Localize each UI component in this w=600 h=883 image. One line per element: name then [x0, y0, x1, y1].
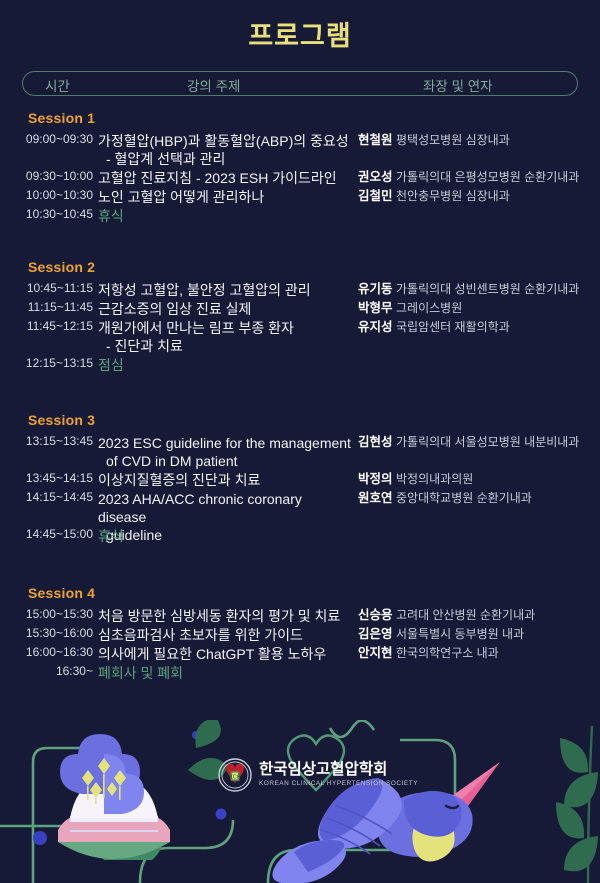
speaker-name: 김철민	[358, 189, 393, 203]
row-speaker: 현철원 평택성모병원 심장내과	[358, 132, 598, 149]
speaker-name: 박형무	[358, 301, 393, 315]
speaker-affiliation: 그레이스병원	[396, 301, 462, 315]
row-subject-line1: 폐회사 및 폐회	[98, 665, 183, 681]
row-speaker: 신승용 고려대 안산병원 순환기내과	[358, 607, 598, 624]
speaker-affiliation: 중앙대학교병원 순환기내과	[396, 491, 532, 505]
speaker-name: 원호연	[358, 491, 393, 505]
row-subject-line1: 이상지질혈증의 진단과 치료	[98, 472, 260, 488]
row-time: 11:15~11:45	[0, 300, 93, 314]
row-subject-line1: 가정혈압(HBP)과 활동혈압(ABP)의 중요성	[98, 133, 349, 149]
row-time: 14:45~15:00	[0, 527, 93, 541]
row-speaker: 유지성 국립암센터 재활의학과	[358, 319, 598, 336]
speaker-affiliation: 가톨릭의대 성빈센트병원 순환기내과	[396, 282, 579, 296]
row-time: 13:15~13:45	[0, 434, 93, 448]
row-subject-line1: 휴식	[98, 528, 124, 544]
row-speaker: 김은영 서울특별시 동부병원 내과	[358, 626, 598, 643]
row-subject: 의사에게 필요한 ChatGPT 활용 노하우	[98, 645, 353, 663]
speaker-name: 김현성	[358, 435, 393, 449]
row-speaker: 권오성 가톨릭의대 은평성모병원 순환기내과	[358, 169, 598, 186]
row-subject-line1: 의사에게 필요한 ChatGPT 활용 노하우	[98, 646, 326, 662]
green-line-stem	[140, 820, 233, 883]
society-name-korean: 한국임상고혈압학회	[259, 761, 418, 778]
row-subject: 개원가에서 만나는 림프 부종 환자- 진단과 치료	[98, 319, 353, 355]
speaker-affiliation: 한국의학연구소 내과	[396, 646, 499, 660]
row-subject-line2: of CVD in DM patient	[98, 452, 353, 470]
row-subject: 심초음파검사 초보자를 위한 가이드	[98, 626, 353, 644]
speaker-name: 신승용	[358, 608, 393, 622]
column-header-time: 시간	[45, 75, 70, 95]
row-subject-line1: 2023 AHA/ACC chronic coronary disease	[98, 491, 302, 525]
speaker-affiliation: 국립암센터 재활의학과	[396, 320, 510, 334]
row-subject-line1: 근감소증의 임상 진료 실제	[98, 301, 251, 317]
row-time: 10:30~10:45	[0, 207, 93, 221]
dot	[33, 831, 47, 845]
speaker-name: 유지성	[358, 320, 393, 334]
speaker-affiliation: 천안충무병원 심장내과	[396, 189, 510, 203]
session-heading: Session 1	[28, 110, 95, 126]
leaf-cluster-right	[188, 720, 598, 883]
row-subject-line1: 심초음파검사 초보자를 위한 가이드	[98, 627, 303, 643]
row-subject-line1: 저항성 고혈압, 불안정 고혈압의 관리	[98, 282, 311, 298]
dot	[216, 809, 227, 820]
row-subject-line2: - 혈압계 선택과 관리	[98, 150, 353, 168]
speaker-name: 안지현	[358, 646, 393, 660]
row-time: 12:15~13:15	[0, 356, 93, 370]
row-time: 11:45~12:15	[0, 319, 93, 333]
dot	[125, 842, 138, 855]
row-subject-line1: 개원가에서 만나는 림프 부종 환자	[98, 320, 294, 336]
session-heading: Session 2	[28, 259, 95, 275]
row-subject: 점심	[98, 356, 353, 374]
row-time: 14:15~14:45	[0, 490, 93, 504]
column-header-subject: 강의 주제	[187, 75, 240, 95]
page-title: 프로그램	[0, 14, 600, 53]
row-time: 16:00~16:30	[0, 645, 93, 659]
row-subject: 처음 방문한 심방세동 환자의 평가 및 치료	[98, 607, 353, 625]
speaker-name: 권오성	[358, 170, 393, 184]
row-subject: 휴식	[98, 207, 353, 225]
column-header-pill: 시간 강의 주제 좌장 및 연자	[22, 71, 578, 96]
row-speaker: 박형무 그레이스병원	[358, 300, 598, 317]
speaker-name: 현철원	[358, 133, 393, 147]
row-subject: 저항성 고혈압, 불안정 고혈압의 관리	[98, 281, 353, 299]
row-time: 10:00~10:30	[0, 188, 93, 202]
flower-sparkles	[82, 758, 126, 804]
row-time: 09:00~09:30	[0, 132, 93, 146]
row-time: 13:45~14:15	[0, 471, 93, 485]
session-heading: Session 4	[28, 585, 95, 601]
program-poster: 프로그램 시간 강의 주제 좌장 및 연자 Session 109:00~09:…	[0, 0, 600, 883]
speaker-affiliation: 서울특별시 동부병원 내과	[396, 627, 524, 641]
row-time: 10:45~11:15	[0, 281, 93, 295]
row-time: 09:30~10:00	[0, 169, 93, 183]
row-speaker: 원호연 중앙대학교병원 순환기내과	[358, 490, 598, 507]
row-subject-line1: 노인 고혈압 어떻게 관리하나	[98, 189, 264, 205]
row-subject: 폐회사 및 폐회	[98, 664, 353, 682]
session-heading: Session 3	[28, 412, 95, 428]
speaker-affiliation: 박정의내과의원	[396, 472, 473, 486]
row-subject-line1: 고혈압 진료지침 - 2023 ESH 가이드라인	[98, 170, 337, 186]
row-subject: 가정혈압(HBP)과 활동혈압(ABP)의 중요성- 혈압계 선택과 관리	[98, 132, 353, 168]
speaker-affiliation: 가톨릭의대 은평성모병원 순환기내과	[396, 170, 579, 184]
row-subject-line1: 휴식	[98, 208, 124, 224]
row-subject-line1: 처음 방문한 심방세동 환자의 평가 및 치료	[98, 608, 340, 624]
row-subject: 노인 고혈압 어떻게 관리하나	[98, 188, 353, 206]
svg-text:KCH: KCH	[230, 774, 241, 780]
row-subject-line1: 2023 ESC guideline for the management	[98, 435, 351, 451]
bottom-decoration	[0, 720, 600, 883]
row-subject: 이상지질혈증의 진단과 치료	[98, 471, 353, 489]
green-line-left	[33, 748, 86, 883]
column-header-speaker: 좌장 및 연자	[423, 75, 493, 95]
row-time: 16:30~	[0, 664, 93, 678]
row-speaker: 박정의 박정의내과의원	[358, 471, 598, 488]
row-speaker: 유기동 가톨릭의대 성빈센트병원 순환기내과	[358, 281, 598, 298]
bird-eye-icon	[446, 806, 458, 808]
dot	[438, 796, 450, 808]
society-emblem-icon: KCH	[218, 758, 252, 792]
row-speaker: 김현성 가톨릭의대 서울성모병원 내분비내과	[358, 434, 598, 451]
society-logo: KCH 한국임상고혈압학회 KOREAN CLINICAL HYPERTENSI…	[218, 758, 418, 792]
squiggle	[330, 720, 374, 737]
speaker-name: 박정의	[358, 472, 393, 486]
row-subject: 2023 ESC guideline for the managementof …	[98, 434, 353, 470]
row-time: 15:30~16:00	[0, 626, 93, 640]
row-speaker: 안지현 한국의학연구소 내과	[358, 645, 598, 662]
speaker-affiliation: 가톨릭의대 서울성모병원 내분비내과	[396, 435, 579, 449]
speaker-name: 유기동	[358, 282, 393, 296]
row-speaker: 김철민 천안충무병원 심장내과	[358, 188, 598, 205]
speaker-affiliation: 평택성모병원 심장내과	[396, 133, 510, 147]
society-name-english: KOREAN CLINICAL HYPERTENSION SOCIETY	[259, 779, 418, 789]
row-subject-line2: - 진단과 치료	[98, 337, 353, 355]
row-subject-line1: 점심	[98, 357, 124, 373]
dot	[192, 731, 200, 739]
speaker-affiliation: 고려대 안산병원 순환기내과	[396, 608, 535, 622]
row-subject: 휴식	[98, 527, 353, 545]
flower-illustration	[58, 734, 170, 860]
speaker-name: 김은영	[358, 627, 393, 641]
row-subject: 고혈압 진료지침 - 2023 ESH 가이드라인	[98, 169, 353, 187]
row-subject: 근감소증의 임상 진료 실제	[98, 300, 353, 318]
row-time: 15:00~15:30	[0, 607, 93, 621]
